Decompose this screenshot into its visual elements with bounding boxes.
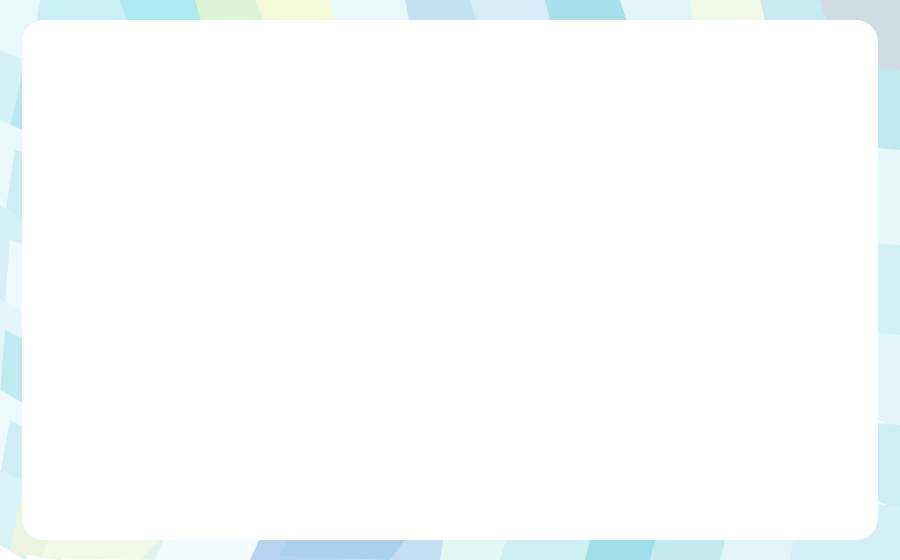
notice-page: 寄付者様への連絡について ご連絡は寄付申込時のメールアドレスにお送りします。 不… xyxy=(0,0,900,560)
content-card xyxy=(22,20,878,540)
